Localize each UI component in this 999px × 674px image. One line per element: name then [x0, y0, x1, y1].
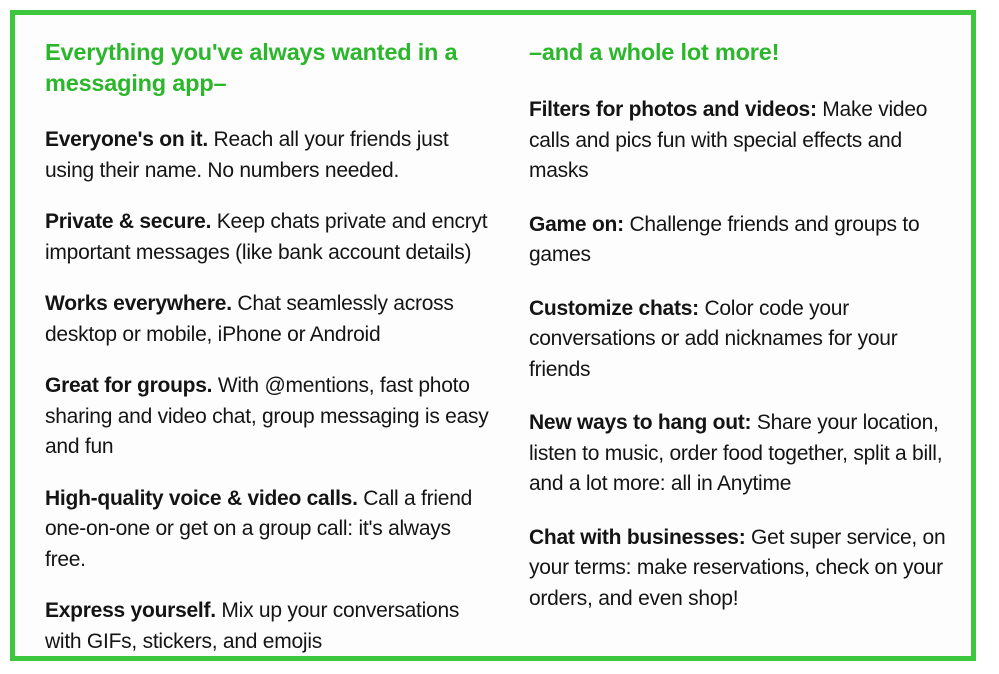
list-item: New ways to hang out: Share your locatio…: [529, 408, 953, 500]
feature-columns: Everything you've always wanted in a mes…: [15, 15, 971, 656]
feature-label: Game on:: [529, 213, 624, 236]
right-feature-column: –and a whole lot more! Filters for photo…: [503, 15, 971, 656]
list-item: Customize chats: Color code your convers…: [529, 294, 953, 386]
left-feature-list: Everyone's on it. Reach all your friends…: [45, 125, 493, 657]
feature-label: Works everywhere.: [45, 292, 232, 315]
left-feature-column: Everything you've always wanted in a mes…: [15, 15, 503, 656]
feature-label: Everyone's on it.: [45, 128, 208, 151]
list-item: Private & secure. Keep chats private and…: [45, 207, 490, 268]
list-item: Great for groups. With @mentions, fast p…: [45, 371, 490, 463]
list-item: Everyone's on it. Reach all your friends…: [45, 125, 490, 186]
feature-label: Great for groups.: [45, 374, 212, 397]
feature-card: Everything you've always wanted in a mes…: [10, 10, 976, 661]
feature-label: Express yourself.: [45, 599, 216, 622]
list-item: Filters for photos and videos: Make vide…: [529, 95, 953, 187]
feature-label: Private & secure.: [45, 210, 211, 233]
list-item: Works everywhere. Chat seamlessly across…: [45, 289, 490, 350]
feature-label: New ways to hang out:: [529, 411, 751, 434]
list-item: High-quality voice & video calls. Call a…: [45, 484, 490, 576]
feature-label: Filters for photos and videos:: [529, 98, 817, 121]
list-item: Express yourself. Mix up your conversati…: [45, 596, 490, 657]
left-column-heading: Everything you've always wanted in a mes…: [45, 37, 475, 99]
list-item: Game on: Challenge friends and groups to…: [529, 210, 953, 271]
feature-label: Customize chats:: [529, 297, 699, 320]
right-column-heading: –and a whole lot more!: [529, 37, 953, 68]
feature-label: Chat with businesses:: [529, 526, 745, 549]
feature-label: High-quality voice & video calls.: [45, 487, 358, 510]
list-item: Chat with businesses: Get super service,…: [529, 523, 953, 615]
right-feature-list: Filters for photos and videos: Make vide…: [529, 95, 953, 614]
